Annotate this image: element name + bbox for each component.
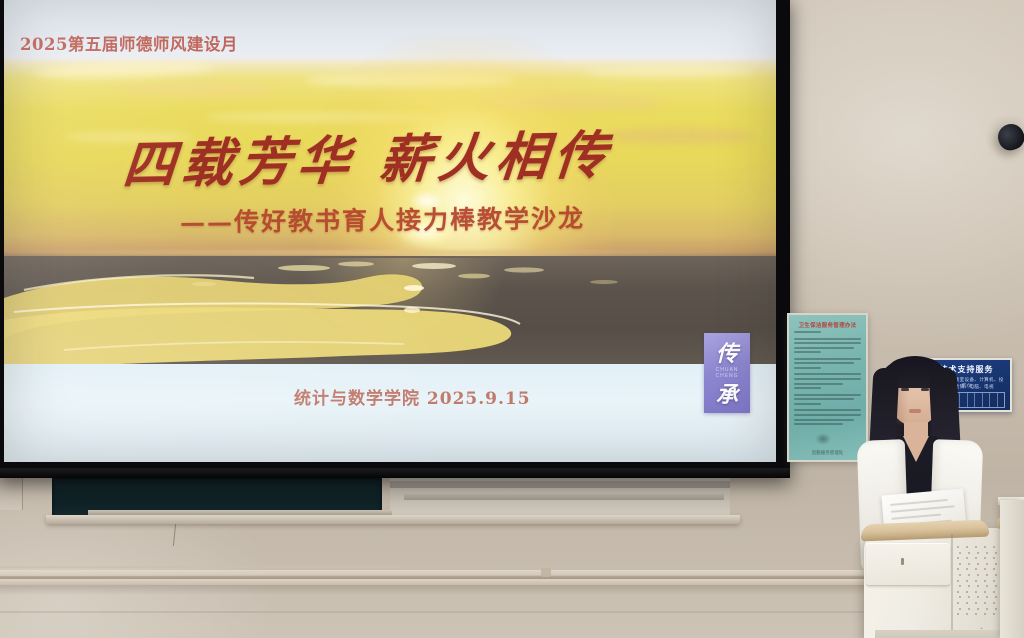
grille-perforation [977, 552, 979, 554]
chuancheng-stamp: 传 CHUAN CHENG 承 [704, 333, 750, 413]
grille-perforation [957, 613, 959, 615]
grille-perforation [984, 602, 986, 604]
cloud [604, 128, 754, 144]
notice-board-seal [815, 433, 831, 445]
grille-perforation [995, 563, 997, 565]
notice-text-line [794, 347, 854, 349]
grille-perforation [984, 557, 986, 559]
grille-perforation [986, 574, 988, 576]
stamp-char-bottom: 承 [704, 377, 750, 409]
lectern-bottom-mark: ⌄ [979, 624, 984, 631]
grille-perforation [993, 602, 995, 604]
grille-perforation [975, 591, 977, 593]
grille-perforation [986, 585, 988, 587]
grille-perforation [966, 568, 968, 570]
slide-main-title: 四载芳华 薪火相传 [120, 113, 615, 198]
grille-perforation [984, 568, 986, 570]
grille-perforation [986, 596, 988, 598]
mouth [909, 409, 921, 413]
grille-perforation [957, 602, 959, 604]
grille-perforation [959, 574, 961, 576]
grille-perforation [993, 557, 995, 559]
sliding-blackboard-track[interactable] [52, 477, 732, 525]
grille-perforation [966, 580, 968, 582]
notice-board-title: 卫生保洁服务管理办法 [789, 321, 866, 329]
grille-perforation [975, 602, 977, 604]
grille-perforation [966, 546, 968, 548]
notice-text-line [794, 331, 821, 333]
whiteboard-top-strip [390, 481, 730, 488]
grille-perforation [959, 552, 961, 554]
grille-perforation [995, 608, 997, 610]
phone-grid-cell [998, 393, 1005, 407]
grille-perforation [966, 613, 968, 615]
slide-footer-band [4, 364, 776, 462]
lectern-fold-line [951, 534, 953, 638]
grille-perforation [993, 580, 995, 582]
grille-perforation [993, 546, 995, 548]
slide-subtitle: ——传好教书育人接力棒教学沙龙 [180, 199, 585, 239]
grille-perforation [957, 568, 959, 570]
grille-perforation [975, 557, 977, 559]
grille-perforation [977, 585, 979, 587]
grille-perforation [975, 613, 977, 615]
notice-text-line [794, 387, 821, 389]
grille-perforation [959, 608, 961, 610]
grille-perforation [968, 585, 970, 587]
notice-text-line [794, 383, 843, 385]
grille-perforation [968, 608, 970, 610]
grille-perforation [959, 585, 961, 587]
winding-sandbar-illustration [4, 250, 776, 370]
eye-right [921, 388, 929, 391]
grille-perforation [977, 574, 979, 576]
board-upper-rail [404, 494, 724, 500]
grille-perforation [995, 585, 997, 587]
grille-perforation [977, 563, 979, 565]
grille-perforation [977, 608, 979, 610]
grille-perforation [968, 563, 970, 565]
lectern-latch[interactable] [901, 558, 904, 565]
slide-eyebrow-text: 2025第五届师德师风建设月 [20, 31, 238, 55]
wall-rail-thin [0, 566, 400, 568]
notice-text-line [794, 403, 821, 405]
grille-perforation [993, 591, 995, 593]
lectern-speaker-grille [955, 544, 1005, 622]
notice-text-line [794, 342, 861, 344]
grille-perforation [993, 568, 995, 570]
board-bottom-rail [46, 515, 740, 524]
projection-screen-frame: 2025第五届师德师风建设月 四载芳华 薪火相传 ——传好教书育人接力棒教学沙龙… [0, 0, 790, 478]
grille-perforation [966, 557, 968, 559]
grille-perforation [957, 591, 959, 593]
notice-text-line [794, 423, 843, 425]
grille-perforation [959, 563, 961, 565]
grille-perforation [968, 552, 970, 554]
notice-text-line [794, 351, 821, 353]
rail-bracket [541, 568, 551, 577]
grille-perforation [984, 546, 986, 548]
eye-left [901, 388, 909, 391]
projection-screen: 2025第五届师德师风建设月 四载芳华 薪火相传 ——传好教书育人接力棒教学沙龙… [4, 0, 776, 462]
cloud [124, 84, 274, 95]
grille-perforation [975, 568, 977, 570]
grille-perforation [957, 580, 959, 582]
grille-perforation [968, 574, 970, 576]
grille-perforation [968, 596, 970, 598]
grille-perforation [995, 574, 997, 576]
grille-perforation [984, 613, 986, 615]
grille-perforation [977, 596, 979, 598]
grille-perforation [959, 596, 961, 598]
grille-perforation [957, 546, 959, 548]
grille-perforation [986, 608, 988, 610]
grille-perforation [986, 563, 988, 565]
lectern-front-panel[interactable] [866, 543, 950, 586]
grille-perforation [993, 613, 995, 615]
grille-perforation [966, 602, 968, 604]
grille-perforation [975, 546, 977, 548]
grille-perforation [995, 596, 997, 598]
wall-socket-plate [0, 476, 23, 510]
stamp-char-top: 传 [704, 336, 750, 368]
notice-text-line [794, 338, 861, 340]
grille-perforation [986, 552, 988, 554]
grille-perforation [957, 557, 959, 559]
foreground-desk [1000, 500, 1024, 638]
room-scene: 2025第五届师德师风建设月 四载芳华 薪火相传 ——传好教书育人接力棒教学沙龙… [0, 0, 1024, 638]
lectern-base [875, 630, 1015, 638]
grille-perforation [984, 580, 986, 582]
grille-perforation [975, 580, 977, 582]
slide-footer-text: 统计与数学学院 2025.9.15 [294, 384, 531, 409]
grille-perforation [984, 591, 986, 593]
notice-text-line [794, 367, 821, 369]
grille-perforation [966, 591, 968, 593]
grille-perforation [995, 552, 997, 554]
